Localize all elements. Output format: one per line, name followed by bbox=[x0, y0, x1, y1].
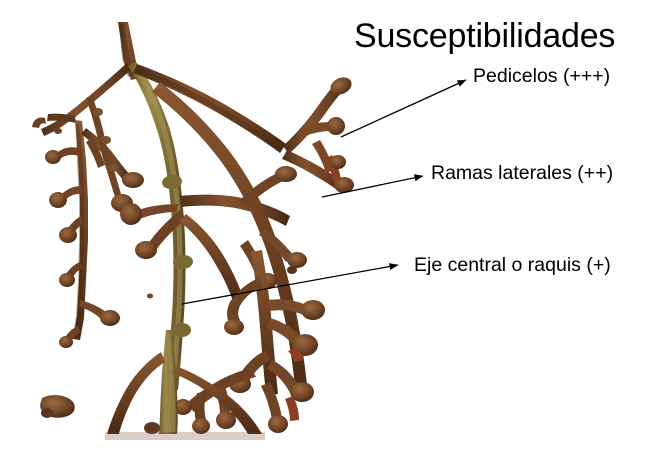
annotation-label-eje-central: Eje central o raquis (+) bbox=[414, 253, 611, 277]
annotation-label-pedicelos: Pedicelos (+++) bbox=[473, 64, 610, 88]
speck bbox=[147, 294, 153, 299]
annotation-label-ramas-laterales: Ramas laterales (++) bbox=[431, 161, 613, 185]
speck bbox=[287, 266, 297, 274]
left-hook bbox=[32, 117, 46, 128]
slide-canvas: Susceptibilidades Pedicelos (+++) Ramas … bbox=[0, 0, 650, 453]
detached-fragment bbox=[40, 395, 75, 418]
speck bbox=[54, 128, 62, 134]
upper-left-branch bbox=[41, 63, 131, 136]
slide-title: Susceptibilidades bbox=[354, 16, 615, 56]
plant-skeleton bbox=[32, 22, 354, 440]
